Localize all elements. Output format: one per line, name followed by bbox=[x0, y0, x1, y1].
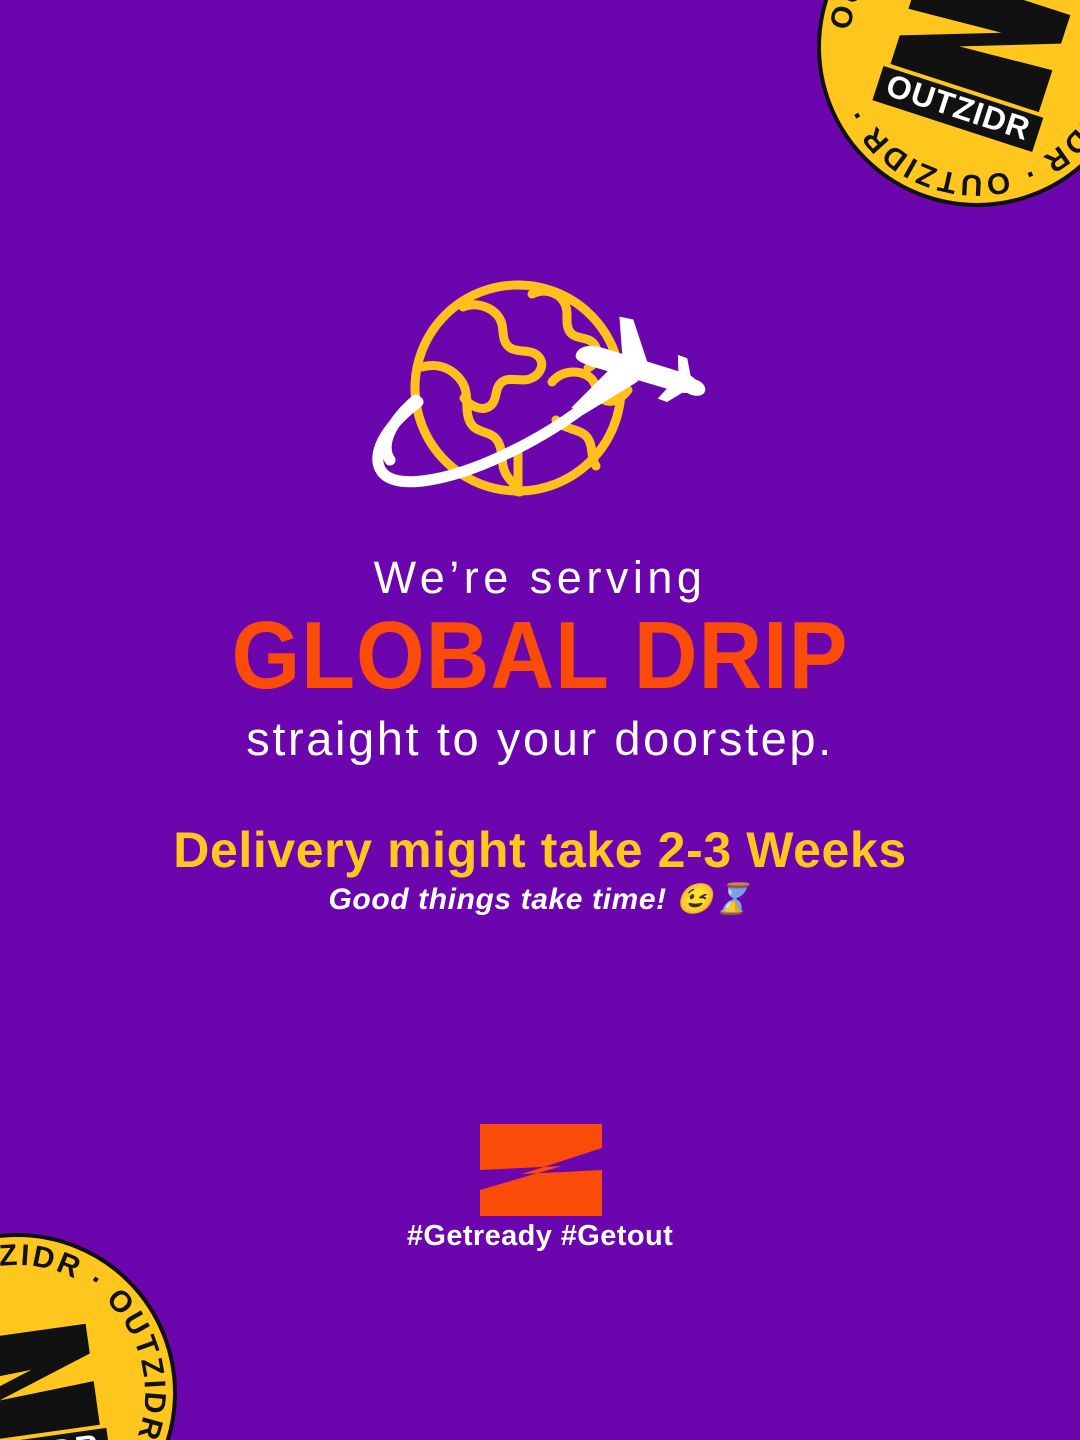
delivery-time-text: Delivery might take 2-3 Weeks bbox=[0, 822, 1080, 880]
outzidr-stamp-badge-bottom-left: OUTZIDR · OUTZIDR · OUTZIDR · OUTZIDR · … bbox=[0, 1228, 182, 1440]
headline-subline: straight to your doorstep. bbox=[0, 712, 1080, 766]
headline-main: GLOBAL DRIP bbox=[43, 608, 1037, 704]
outzidr-stamp-badge-top-right: OUTZIDR · OUTZIDR · OUTZIDR · OUTZIDR · … bbox=[812, 0, 1080, 212]
poster-canvas: We’re serving GLOBAL DRIP straight to yo… bbox=[0, 0, 1080, 1440]
outzidr-z-logo bbox=[478, 1122, 604, 1218]
globe-airplane-illustration bbox=[350, 270, 730, 520]
headline-eyebrow: We’re serving bbox=[0, 552, 1080, 604]
delivery-note-text: Good things take time! 😉⌛ bbox=[0, 882, 1080, 918]
